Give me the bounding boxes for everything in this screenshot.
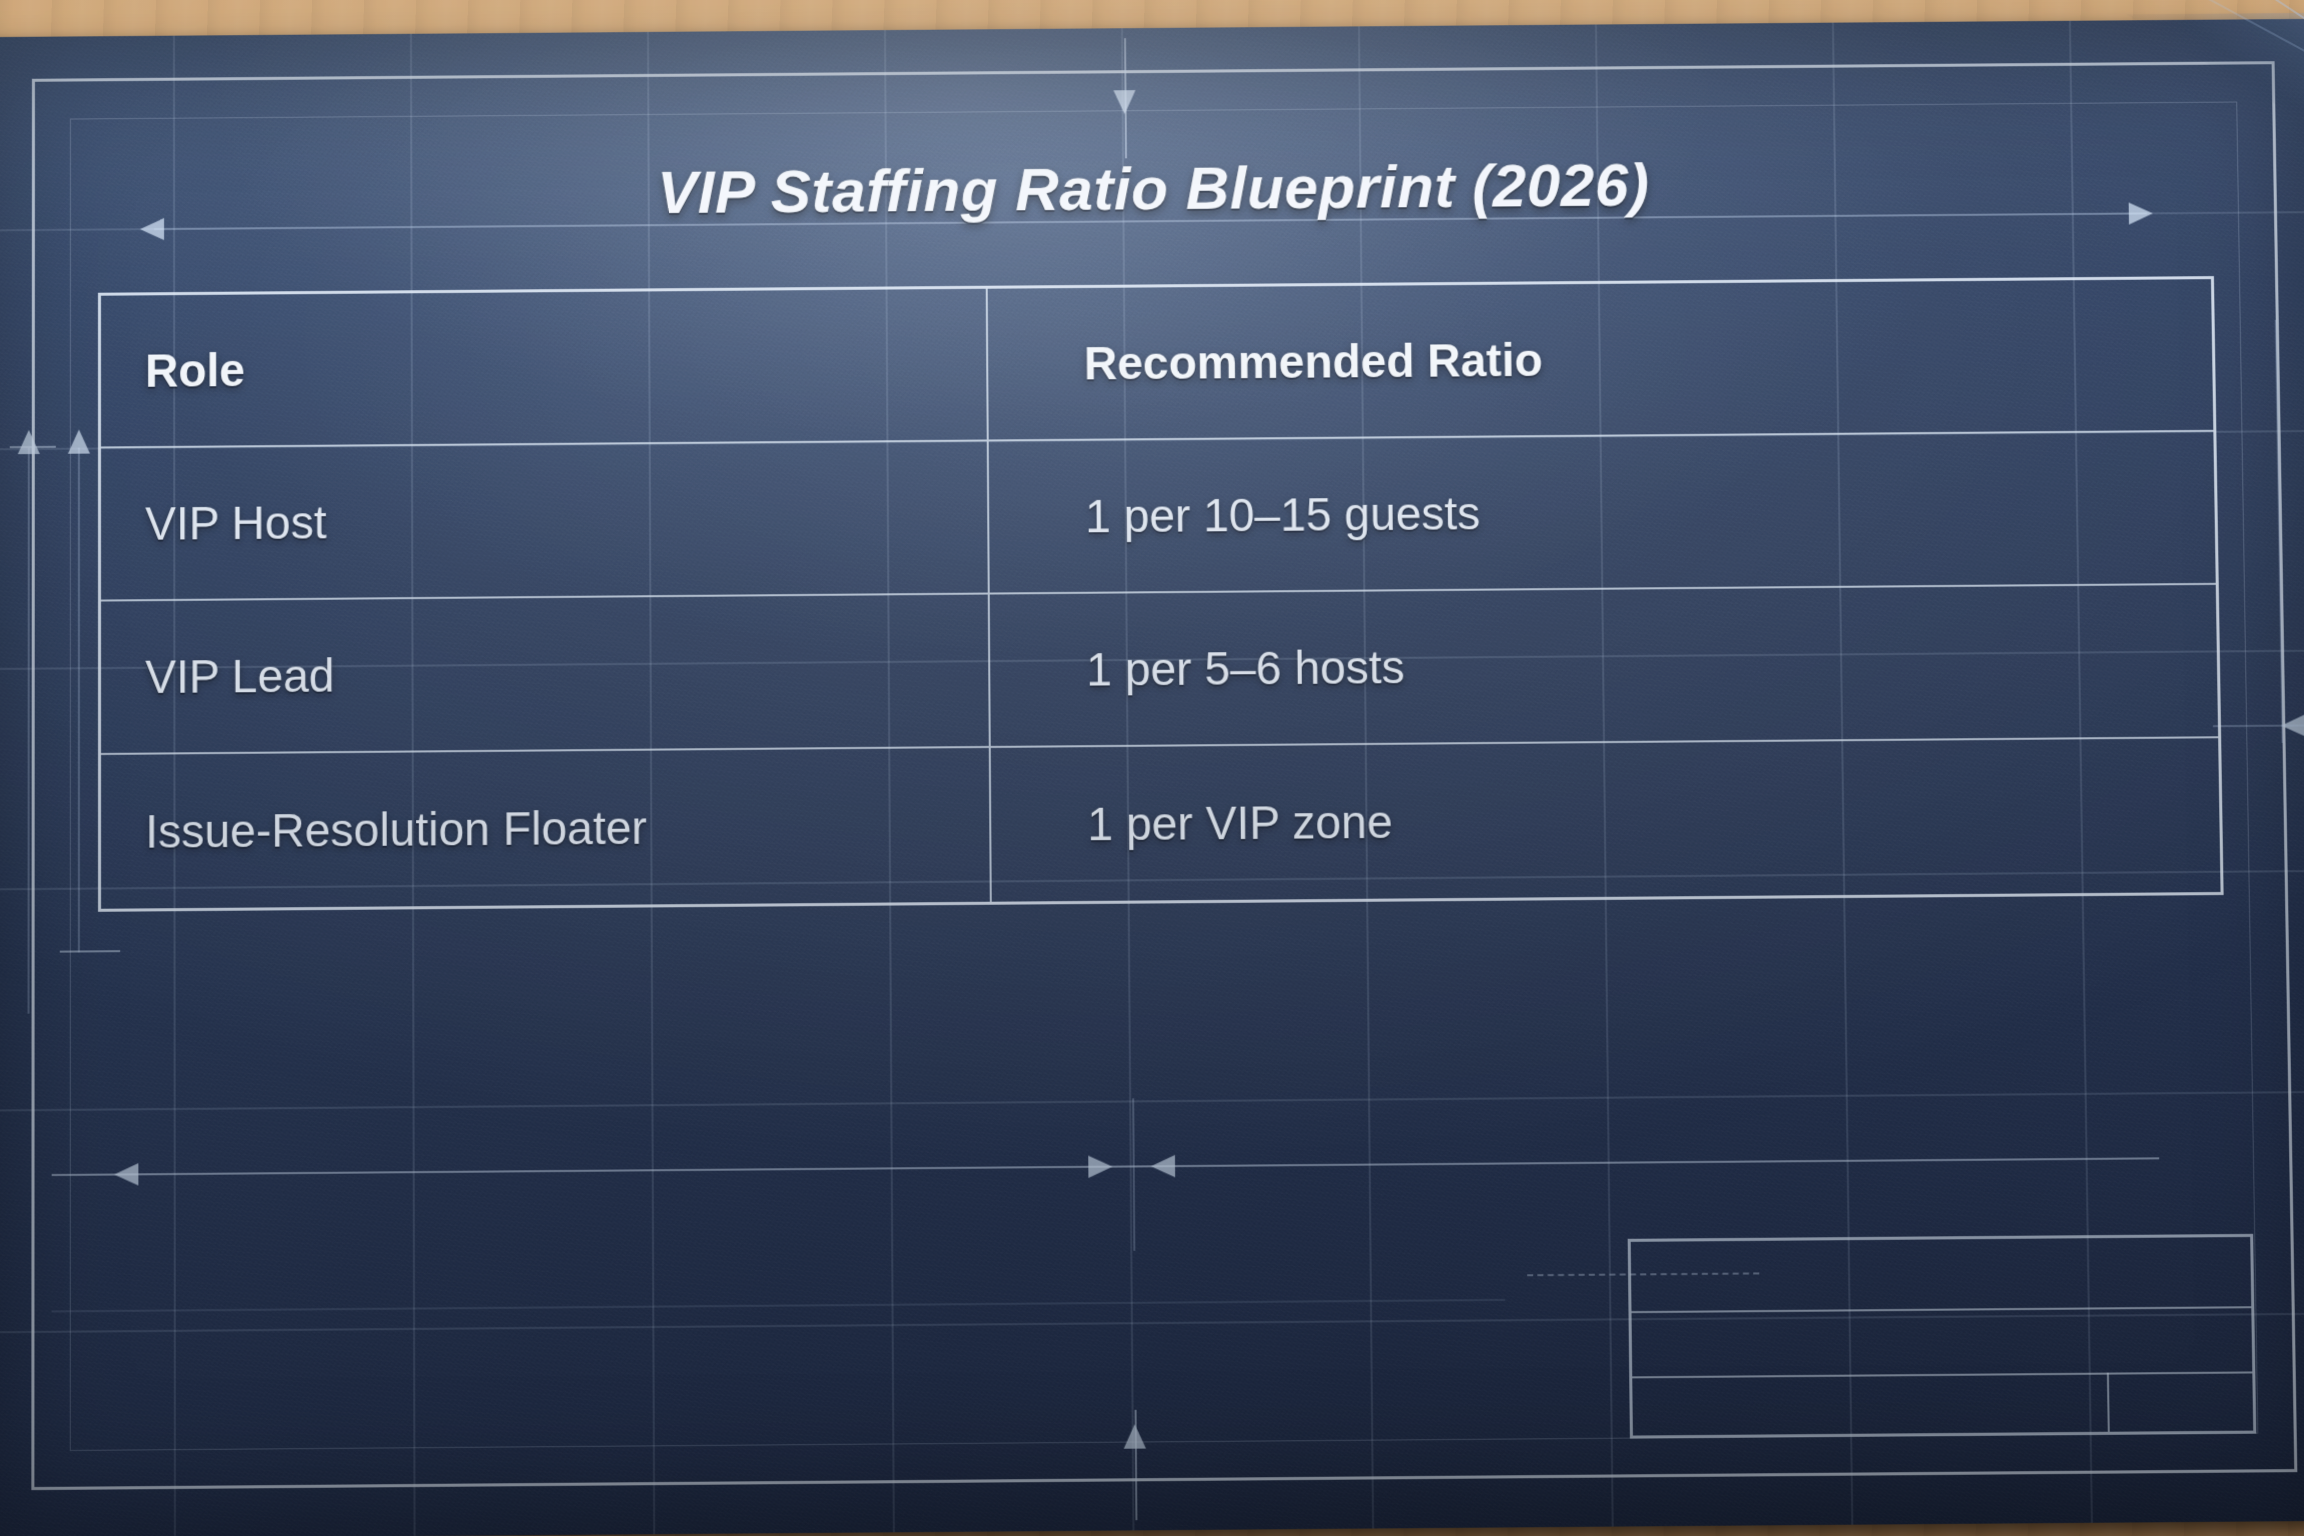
cell-ratio-vip-lead: 1 per 5–6 hosts [989, 585, 2218, 746]
sheet-content: VIP Staffing Ratio Blueprint (2026) Role… [0, 19, 2304, 1536]
table-row: Issue-Resolution Floater 1 per VIP zone [101, 738, 2221, 908]
table-row: VIP Host 1 per 10–15 guests [101, 432, 2216, 602]
blueprint-sheet: VIP Staffing Ratio Blueprint (2026) Role… [0, 19, 2304, 1536]
cell-role-issue-resolution-floater: Issue-Resolution Floater [101, 748, 991, 909]
desk-surface: VIP Staffing Ratio Blueprint (2026) Role… [0, 0, 2304, 1536]
page-title: VIP Staffing Ratio Blueprint (2026) [0, 145, 2304, 233]
column-header-role: Role [101, 289, 988, 447]
cell-role-vip-host: VIP Host [101, 441, 989, 599]
cell-ratio-issue-resolution-floater: 1 per VIP zone [990, 738, 2220, 901]
cell-role-vip-lead: VIP Lead [101, 595, 990, 753]
table-row: VIP Lead 1 per 5–6 hosts [101, 585, 2218, 755]
cell-ratio-vip-host: 1 per 10–15 guests [988, 432, 2215, 593]
table-header-row: Role Recommended Ratio [101, 279, 2213, 448]
staffing-ratio-table: Role Recommended Ratio VIP Host 1 per 10… [98, 276, 2224, 912]
column-header-recommended-ratio: Recommended Ratio [987, 279, 2213, 439]
